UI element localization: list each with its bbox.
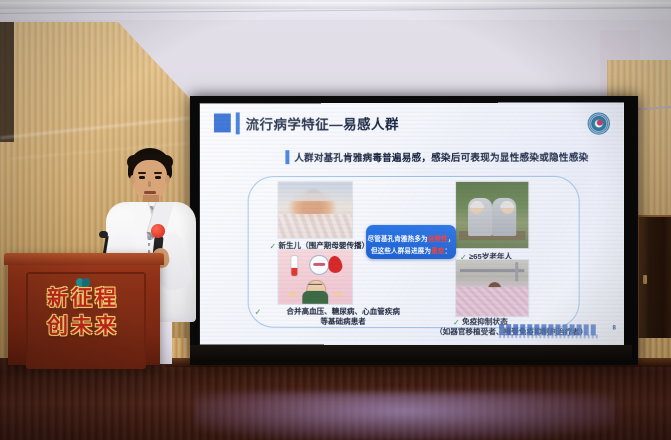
illustration-arm-right [333,292,343,297]
podium-calligraphy-plaque: 新征程 创未来 [30,278,136,344]
patient-in-hospital-bed-photo [455,259,529,317]
lectern-microphone-icon[interactable] [99,231,108,238]
slide-title-accent-bar [236,112,240,134]
pill-circle-icon [309,255,329,275]
callout-line-2: 但这些人群易进展为重症： [366,245,456,255]
slide-accent-square [214,113,231,132]
illustration-arm-left [287,292,297,297]
speaker-eyebrow-right [154,172,162,174]
microphone-icon[interactable] [151,224,165,238]
presentation-scene: 流行病学特征—易感人群 人群对基孔肯雅病毒普遍易感，感染后可表现为显性感染或隐性… [0,0,671,440]
speaker-nose [148,181,151,187]
speaker-eye-left [139,176,145,179]
newborn-baby-photo [277,181,353,239]
elderly-with-medical-icons-illustration [277,249,353,305]
callout-line2-suffix: ： [444,248,451,255]
check-icon: ✓ [453,318,460,327]
callout-line2-prefix: 但这些人群易进展为 [371,248,431,255]
check-icon: ✓ [269,242,276,251]
podium-top-ledge [4,253,164,265]
speaker-ear-left [130,175,135,184]
blood-drop-icon [327,255,343,274]
door-handle-icon[interactable] [643,275,647,284]
speaker-ear-right [165,175,170,184]
speaker-face [133,160,167,200]
callout-line1-highlight: 自限性 [428,236,448,243]
screen-lower-bezel [190,345,632,361]
speaker-eye-right [155,176,161,179]
speaker-eyebrow-left [138,172,146,174]
podium-calligraphy-line-2: 创未来 [30,310,136,340]
photo-blanket-detail [278,214,352,237]
left-dark-gap [0,22,14,142]
page-title: 流行病学特征—易感人群 [246,113,399,133]
slide-subtitle: 人群对基孔肯雅病毒普遍易感，感染后可表现为显性感染或隐性感染 [294,150,588,164]
callout-box: 尽管基孔肯雅热多为自限性， 但这些人群易进展为重症： [366,225,456,259]
slide-canvas: 流行病学特征—易感人群 人群对基孔肯雅病毒普遍易感，感染后可表现为显性感染或隐性… [200,102,624,345]
bed-sheet-detail [456,287,528,316]
hair-left [470,201,484,208]
group-caption-chronic-line1: 合并高血压、糖尿病、心血管疾病 [264,307,423,318]
footer-organization-subline [499,334,598,338]
illustration-body [302,291,328,305]
floor-light-reflection [195,392,615,440]
logo-accent-dot-icon [597,120,603,126]
group-caption-chronic-line2: 等基础病患者 [264,317,423,328]
projection-screen: 流行病学特征—易感人群 人群对基孔肯雅病毒普遍易感，感染后可表现为显性感染或隐性… [200,102,624,345]
speaker-mouth [144,191,156,194]
callout-line-1: 尽管基孔肯雅热多为自限性， [366,233,456,243]
callout-line2-highlight: 重症 [431,248,444,255]
elderly-couple-on-bench-photo [455,181,529,249]
thermometer-icon [290,255,298,277]
iv-pole-detail [515,262,518,281]
podium-calligraphy-line-1: 新征程 [30,282,136,312]
slide-page-number: 8 [613,325,616,331]
photo-pillow-detail [278,182,352,201]
subtitle-accent-bar [285,150,288,164]
glasses-icon [308,284,322,289]
hair-right [500,201,514,208]
callout-line1-prefix: 尽管基孔肯雅热多为 [368,236,428,243]
check-icon: ✓ [255,308,262,317]
callout-line1-suffix: ， [448,236,455,243]
